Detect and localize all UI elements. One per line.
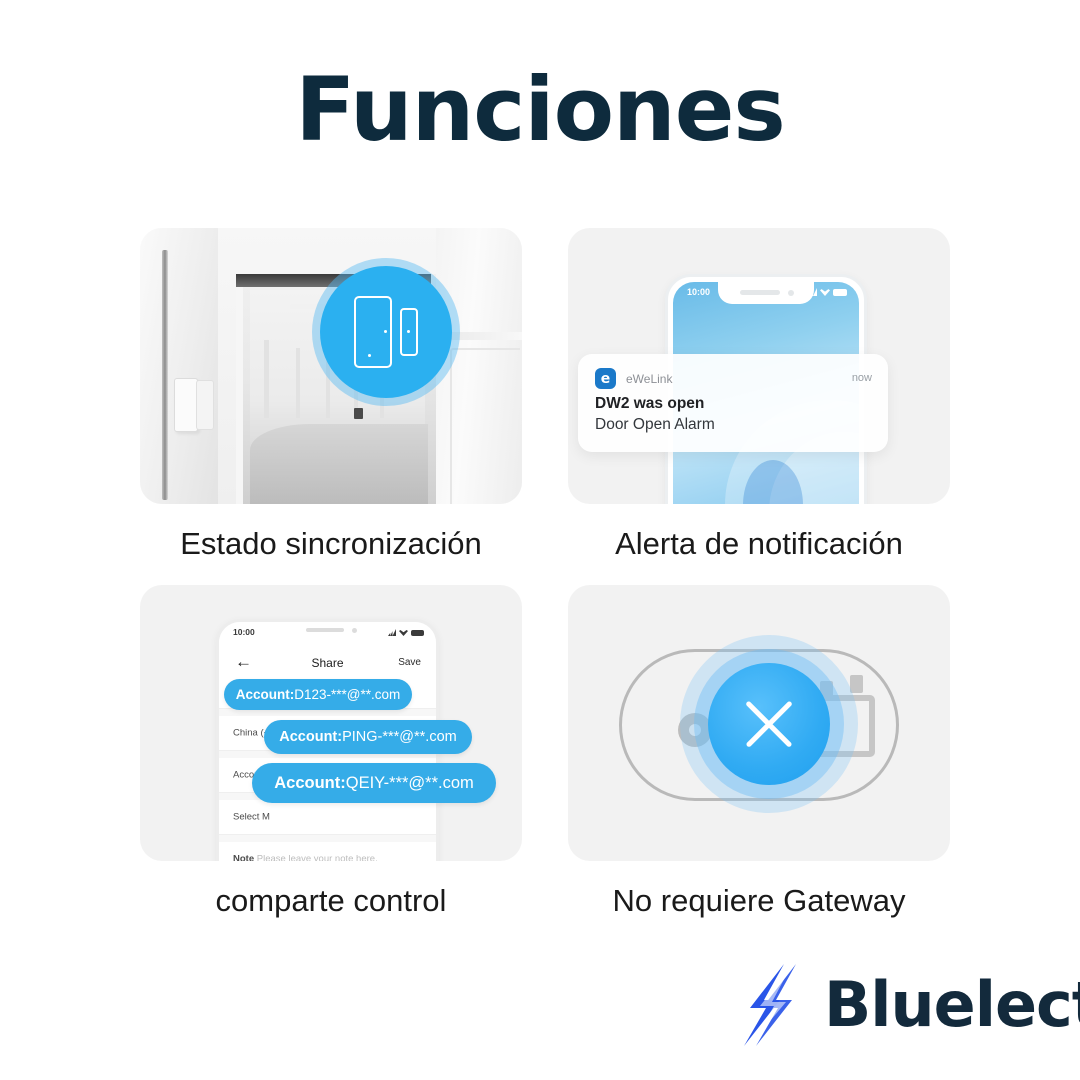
account-pill-value: PING-***@**.com <box>342 729 457 745</box>
feature-card-notification-alert[interactable]: 10:00 e eWeLink now DW2 was open <box>568 228 950 504</box>
account-pill: Account:QEIY-***@**.com <box>252 763 496 803</box>
feature-card-no-gateway[interactable] <box>568 585 950 861</box>
form-row-label: Select M <box>233 812 270 823</box>
feature-card-share-control[interactable]: 10:00 ← Share Save <box>140 585 522 861</box>
status-time: 10:00 <box>687 287 710 297</box>
page-title: Funciones <box>0 58 1080 161</box>
notification-title: DW2 was open <box>595 395 704 413</box>
account-pill-label: Account: <box>274 774 346 793</box>
notification-app-name: eWeLink <box>626 372 672 386</box>
feature-cell-notification-alert: 10:00 e eWeLink now DW2 was open <box>568 228 950 562</box>
save-button[interactable]: Save <box>398 657 421 668</box>
feature-caption-notification-alert: Alerta de notificación <box>568 526 950 562</box>
account-pill: Account:D123-***@**.com <box>224 679 412 710</box>
feature-cell-share-control: 10:00 ← Share Save <box>140 585 522 919</box>
door-sensor-badge <box>312 258 460 406</box>
signal-icon <box>388 629 396 636</box>
wifi-icon <box>820 288 830 296</box>
signal-icon <box>808 288 817 296</box>
account-pill-value: D123-***@**.com <box>294 687 400 702</box>
battery-icon <box>833 289 847 296</box>
wifi-icon <box>399 629 408 636</box>
brand-logo: Bluelectrec <box>740 962 1080 1048</box>
form-row-note[interactable]: Note Please leave your note here. <box>219 842 436 861</box>
account-pill: Account:PING-***@**.com <box>264 720 472 754</box>
account-pill-label: Account: <box>279 729 342 745</box>
account-pill-value: QEIY-***@**.com <box>346 774 474 793</box>
feature-caption-share-control: comparte control <box>140 883 522 919</box>
phone-status-bar: 10:00 <box>219 622 436 644</box>
feature-cell-status-sync: Estado sincronización <box>140 228 522 562</box>
form-row-select[interactable]: Select M <box>219 800 436 835</box>
ewelink-app-icon: e <box>595 368 616 389</box>
notification-subtitle: Door Open Alarm <box>595 416 715 434</box>
share-navbar: ← Share Save <box>219 644 436 679</box>
account-pill-label: Account: <box>236 687 295 702</box>
status-icons <box>808 288 847 296</box>
notification-banner[interactable]: e eWeLink now DW2 was open Door Open Ala… <box>578 354 888 452</box>
note-label: Note <box>233 854 254 862</box>
feature-card-status-sync[interactable] <box>140 228 522 504</box>
feature-caption-no-gateway: No requiere Gateway <box>568 883 950 919</box>
cross-x-icon <box>708 663 830 785</box>
poster-root: Funciones <box>0 0 1080 1080</box>
feature-caption-status-sync: Estado sincronización <box>140 526 522 562</box>
door-sensor-icon <box>354 296 418 368</box>
notification-timestamp: now <box>852 372 872 384</box>
phone-notch <box>718 282 814 304</box>
feature-cell-no-gateway: No requiere Gateway <box>568 585 950 919</box>
status-time: 10:00 <box>233 627 255 637</box>
lightning-bolt-icon <box>740 962 814 1048</box>
battery-icon <box>411 630 424 636</box>
note-placeholder: Please leave your note here. <box>257 854 378 862</box>
brand-name: Bluelectrec <box>824 974 1080 1036</box>
